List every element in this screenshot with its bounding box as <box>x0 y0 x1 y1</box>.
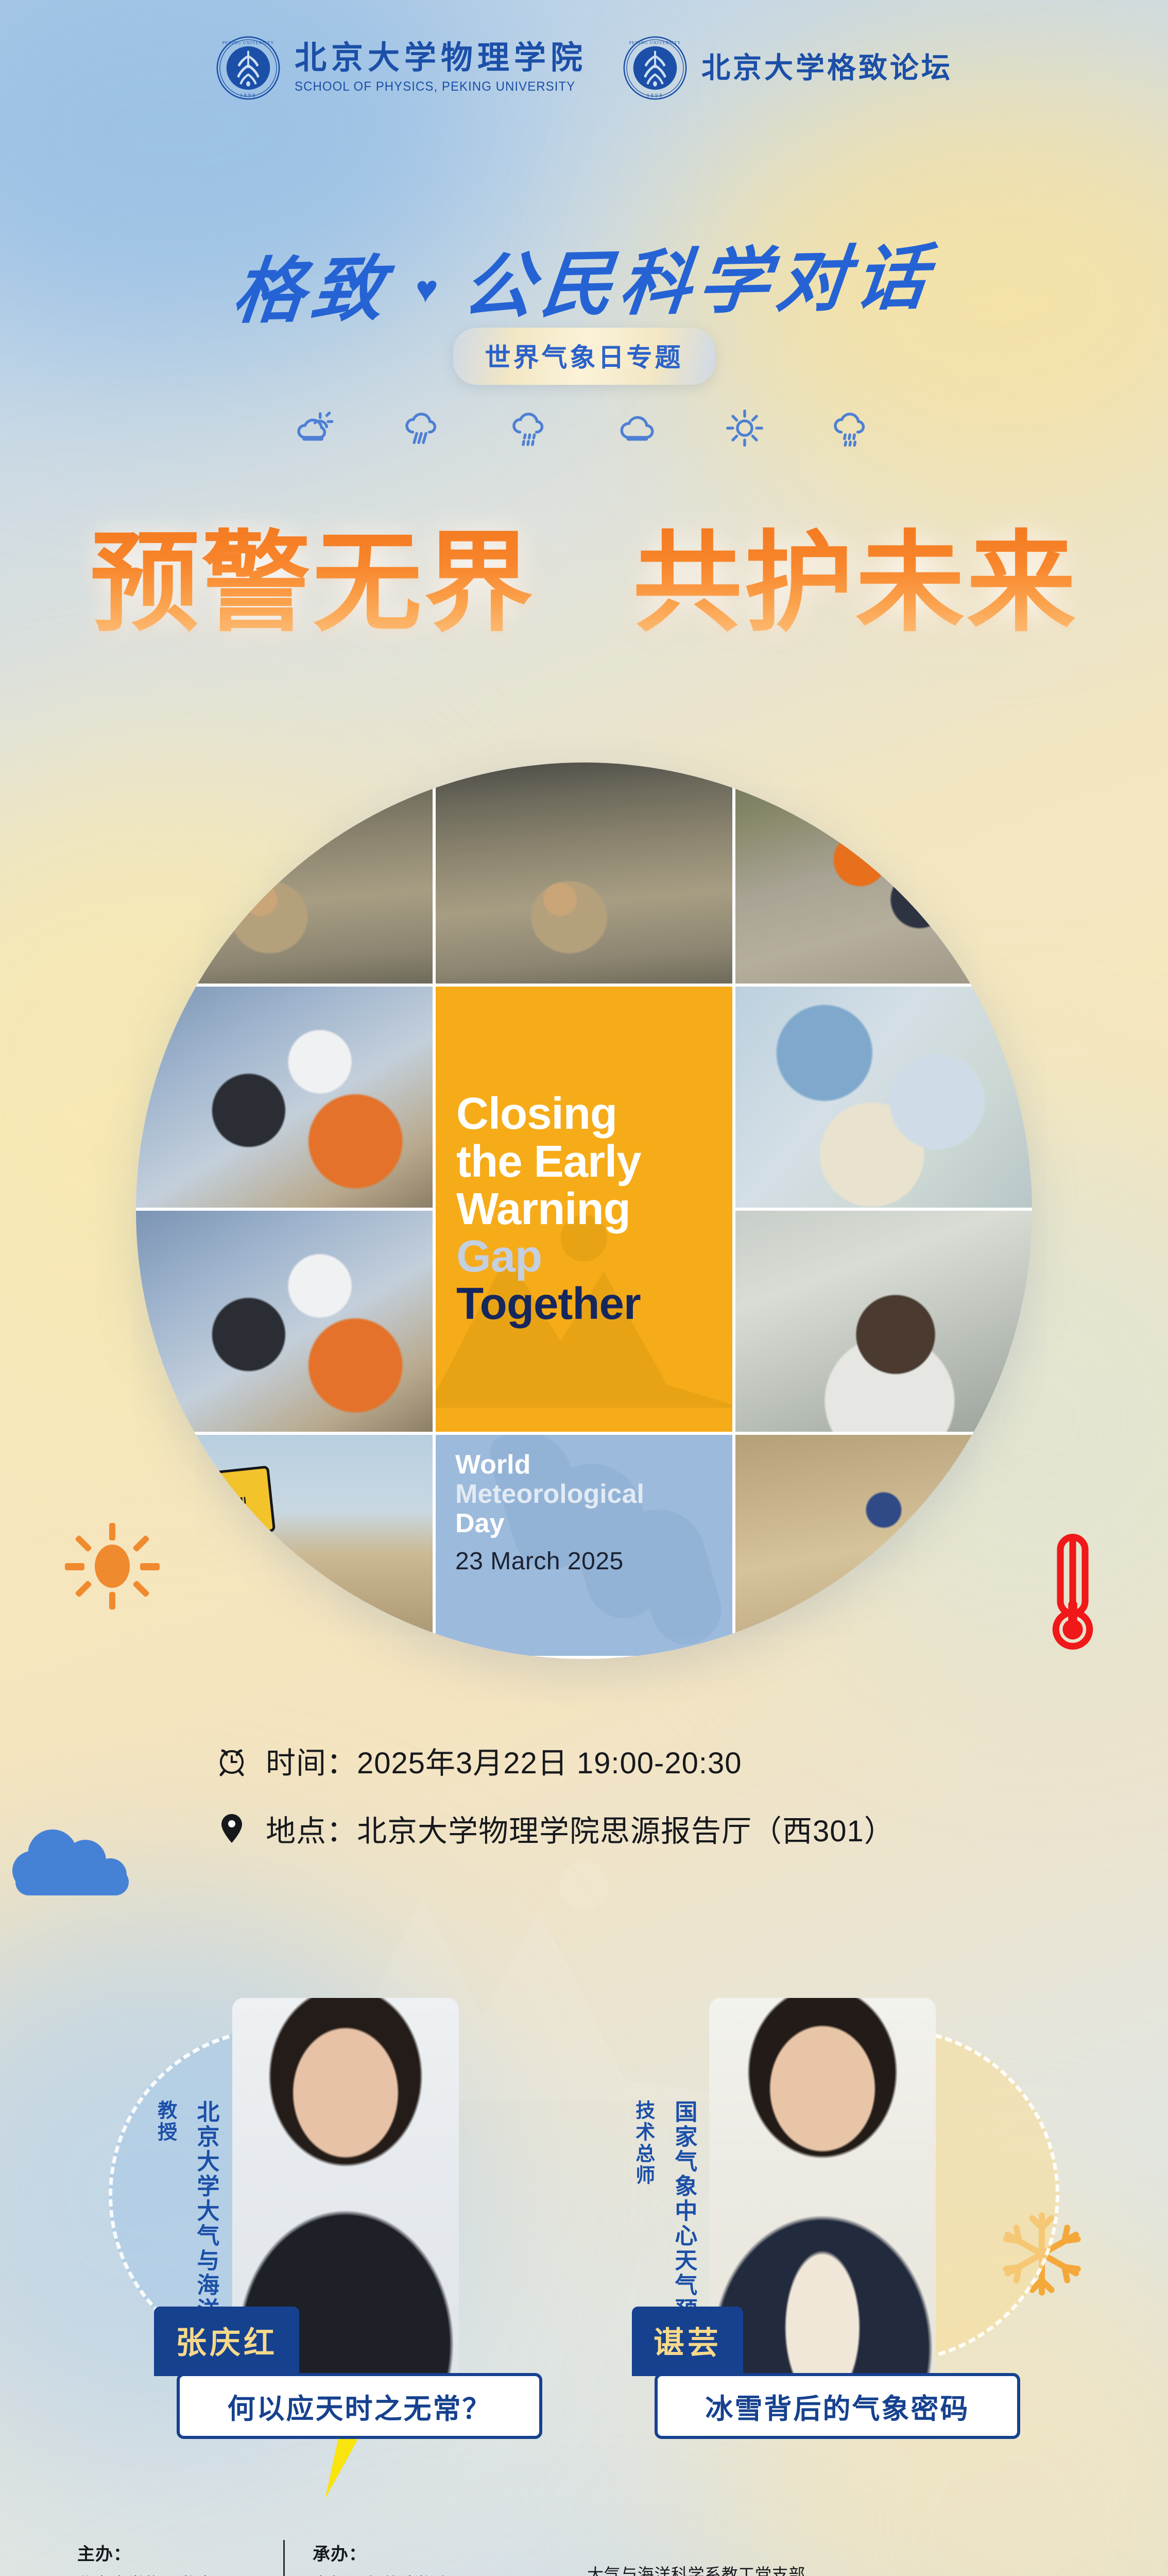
collage-cell-flood-water <box>436 762 732 984</box>
host-label: 主办： <box>77 2540 283 2565</box>
coorganiser-label: 承办： <box>313 2540 572 2565</box>
cloud-icon <box>616 407 659 449</box>
speakers-section: 教授 北京大学大气与海洋科学系 张庆红 何以应天时之无常？ 技术总师 国家气象中… <box>0 1927 1168 2483</box>
party-branch-column: 大气与海洋科学系教工党支部 大气与海洋科学系研究生第一党支部、第二党支部 <box>572 2540 1091 2576</box>
coorganiser-column: 承办： 大气与海洋科学系 大气与海洋科学系蔚蓝空间 <box>283 2540 572 2576</box>
speaker-1-talk-box: 何以应天时之无常？ <box>177 2373 542 2439</box>
partly-cloudy-day-icon <box>295 407 337 449</box>
collage-cell-flood-rescue-children <box>735 762 1032 984</box>
svg-text:1898: 1898 <box>647 93 664 98</box>
resilience-overlay: 15 RESILIENCE for ACTION <box>229 789 340 825</box>
collage-cell-megaphone-warning <box>136 987 433 1208</box>
collage-cell-flood-mother-child: 15 RESILIENCE for ACTION <box>136 762 433 984</box>
svg-text:1898: 1898 <box>240 93 257 98</box>
event-location-label: 地点：北京大学物理学院思源报告厅（西301） <box>266 1807 895 1850</box>
speaker-card-2: 技术总师 国家气象中心天气预报室 谌芸 冰雪背后的气象密码 <box>600 1927 1063 2458</box>
collage-cell-volunteer <box>136 1211 433 1432</box>
cloud-heavy-rain-icon <box>402 407 444 449</box>
wmo-line-4: Gap <box>456 1233 712 1280</box>
wmo-line-5: Together <box>456 1280 712 1328</box>
event-info: 时间：2025年3月22日 19:00-20:30 地点：北京大学物理学院思源报… <box>0 1739 1168 1850</box>
wmo-line-3: Warning <box>456 1185 712 1233</box>
world-meteorological-day-text: World Meteorological Day <box>455 1450 732 1539</box>
main-headline-wrap: 预警无界 共护未来 <box>0 526 1168 641</box>
wmd-date: 23 March 2025 <box>455 1547 732 1575</box>
event-time-label: 时间：2025年3月22日 19:00-20:30 <box>266 1739 742 1782</box>
host-column: 主办： 北京大学物理学院 <box>77 2540 283 2576</box>
resilience-caption: RESILIENCE for ACTION <box>229 815 340 825</box>
school-name-en: SCHOOL OF PHYSICS, PEKING UNIVERSITY <box>295 79 575 94</box>
calligraphy-title: 格致 ♥ 公民科学对话 <box>0 227 1168 330</box>
subtitle-badge: 世界气象日专题 <box>453 328 715 385</box>
collage-area: 15 RESILIENCE for ACTION <box>0 732 1168 1710</box>
logo-gezhi-forum: PEKING UNIVERSITY 1898 北京大学格致论坛 <box>622 35 953 101</box>
wmo-day-panel: World Meteorological Day 23 March 2025 <box>436 1435 732 1656</box>
collage-cell-childrens-artwork <box>735 987 1032 1208</box>
alarm-clock-icon <box>215 1744 248 1777</box>
wmo-line-1: Closing <box>456 1090 712 1138</box>
speaker-card-1: 教授 北京大学大气与海洋科学系 张庆红 何以应天时之无常？ <box>105 1927 568 2458</box>
weather-icon-row <box>0 407 1168 449</box>
calligraphy-right-text: 公民科学对话 <box>459 239 938 327</box>
speaker-2-talk-title: 冰雪背后的气象密码 <box>706 2386 970 2427</box>
peking-university-seal-icon: PEKING UNIVERSITY 1898 <box>622 35 688 101</box>
school-name-cn: 北京大学物理学院 <box>295 42 587 74</box>
sun-icon <box>724 407 766 449</box>
speaker-2-photo <box>709 1998 936 2410</box>
event-time-row: 时间：2025年3月22日 19:00-20:30 <box>215 1739 742 1782</box>
map-pin-icon <box>215 1812 248 1845</box>
party-branch-value-1: 大气与海洋科学系教工党支部 <box>587 2562 1091 2576</box>
organiser-footer: 主办： 北京大学物理学院 承办： 大气与海洋科学系 大气与海洋科学系蔚蓝空间 大… <box>0 2540 1168 2576</box>
collage-cell-drought-cracked-ground <box>735 1435 1032 1656</box>
headline-part-1: 预警无界 <box>90 522 535 644</box>
peking-university-seal-icon: PEKING UNIVERSITY 1898 <box>215 35 281 101</box>
circular-photo-collage: 15 RESILIENCE for ACTION <box>136 762 1032 1659</box>
poster-root: PEKING UNIVERSITY 1898 北京大学物理学院 SCHOOL O… <box>0 0 1168 2576</box>
wmo-line-2: the Early <box>456 1138 712 1185</box>
forum-name-cn: 北京大学格致论坛 <box>701 54 953 82</box>
speaker-1-role: 教授 <box>154 2100 176 2143</box>
wmo-poster-panel: Closing the Early Warning Gap Together <box>436 987 732 1432</box>
headline-part-2: 共护未来 <box>633 522 1078 644</box>
wmd-line-2: Meteorological <box>455 1479 644 1509</box>
collage-cell-tsunami-sign: TSUNAMI <box>136 1435 433 1656</box>
cloud-drizzle-icon <box>509 407 552 449</box>
thermometer-decoration-icon <box>1044 1533 1101 1656</box>
coorganiser-value-1: 大气与海洋科学系 <box>313 2571 572 2576</box>
speaker-1-talk-title: 何以应天时之无常？ <box>228 2386 492 2427</box>
wmd-line-3: Day <box>455 1509 504 1538</box>
wmo-slogan: Closing the Early Warning Gap Together <box>456 1090 712 1328</box>
collage-grid: 15 RESILIENCE for ACTION <box>136 762 1032 1659</box>
heart-icon: ♥ <box>413 268 439 311</box>
speaker-2-talk-box: 冰雪背后的气象密码 <box>655 2373 1020 2439</box>
speaker-2-name-badge: 谌芸 <box>632 2307 743 2376</box>
wmd-line-1: World <box>455 1450 530 1480</box>
collage-cell-boy-portrait <box>735 1211 1032 1432</box>
svg-text:PEKING UNIVERSITY: PEKING UNIVERSITY <box>222 40 274 45</box>
poster-header: PEKING UNIVERSITY 1898 北京大学物理学院 SCHOOL O… <box>0 35 1168 101</box>
sun-decoration-icon <box>61 1515 164 1618</box>
svg-text:PEKING UNIVERSITY: PEKING UNIVERSITY <box>629 40 681 45</box>
event-location-row: 地点：北京大学物理学院思源报告厅（西301） <box>215 1807 895 1850</box>
calligraphy-left-text: 格致 <box>229 250 394 332</box>
tsunami-hazard-sign-icon: TSUNAMI <box>171 1465 276 1541</box>
speaker-2-role: 技术总师 <box>632 2100 654 2187</box>
subtitle-badge-wrap: 世界气象日专题 <box>0 328 1168 385</box>
cloud-rain-icon <box>831 407 873 449</box>
logo-school-of-physics: PEKING UNIVERSITY 1898 北京大学物理学院 SCHOOL O… <box>215 35 587 101</box>
host-value: 北京大学物理学院 <box>77 2571 283 2576</box>
resilience-number: 15 <box>229 789 340 815</box>
speaker-1-name-badge: 张庆红 <box>154 2307 299 2376</box>
